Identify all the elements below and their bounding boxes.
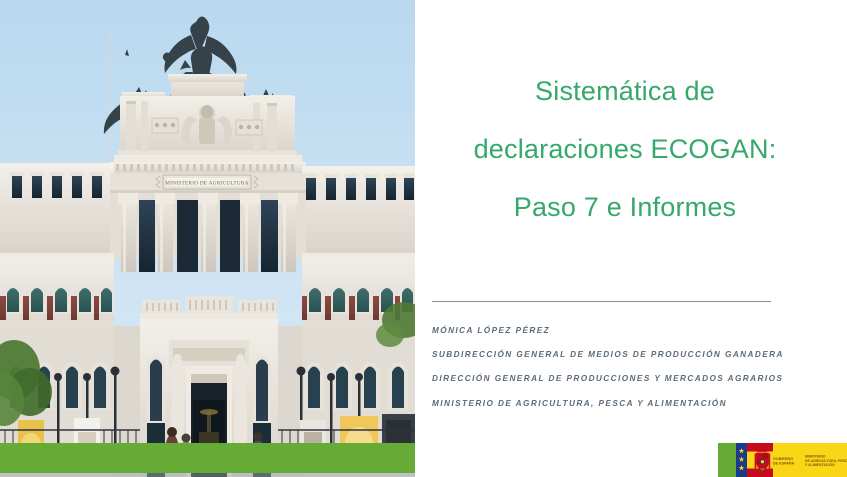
green-accent-bar — [0, 443, 430, 473]
logo-ministerio-line3: Y ALIMENTACIÓN — [805, 462, 835, 467]
title-line-1: Sistemática de — [415, 62, 835, 120]
gobierno-de-espana-logo: GOBIERNO DE ESPAÑA MINISTERIO DE AGRICUL… — [718, 443, 847, 477]
logo-gobierno-text: GOBIERNO DE ESPAÑA — [773, 457, 795, 465]
author-affiliation-block: Mónica López Pérez Subdirección General … — [432, 319, 832, 416]
subdirectorate-line: Subdirección General de Medios de Produc… — [432, 343, 832, 367]
slide-title: Sistemática de declaraciones ECOGAN: Pas… — [415, 62, 835, 236]
author-name: Mónica López Pérez — [432, 319, 832, 343]
presentation-slide: MINISTERIO DE AGRICULTURA — [0, 0, 847, 477]
svg-text:MINISTERIO DE AGRICULTURA: MINISTERIO DE AGRICULTURA — [165, 181, 248, 187]
ministry-building-photo: MINISTERIO DE AGRICULTURA — [0, 0, 415, 477]
logo-green-band — [718, 443, 736, 477]
title-divider — [432, 301, 771, 302]
facade-plaque: MINISTERIO DE AGRICULTURA — [156, 175, 258, 189]
directorate-line: Dirección General de Producciones y Merc… — [432, 367, 832, 391]
logo-gobierno-line1: GOBIERNO — [773, 457, 793, 461]
logo-flag-red-bottom — [747, 469, 773, 477]
slide-text-panel: Sistemática de declaraciones ECOGAN: Pas… — [415, 0, 847, 477]
title-line-3: Paso 7 e Informes — [415, 178, 835, 236]
ministry-line: Ministerio de Agricultura, Pesca y Alime… — [432, 392, 832, 416]
logo-gobierno-line2: DE ESPAÑA — [773, 460, 795, 465]
title-line-2: declaraciones ECOGAN: — [415, 120, 835, 178]
